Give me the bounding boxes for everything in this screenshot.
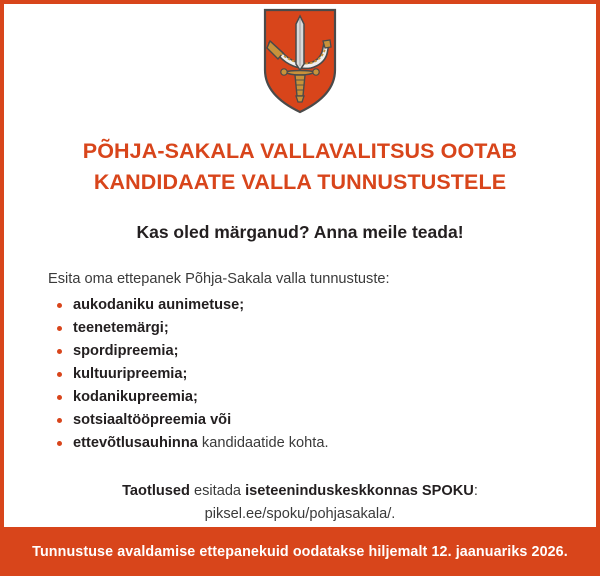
apply-middle-text: esitada: [190, 483, 245, 499]
intro-text: Esita oma ettepanek Põhja-Sakala valla t…: [48, 269, 566, 289]
bullet-icon: [57, 418, 62, 423]
list-item-label: ettevõtlusauhinna: [73, 435, 198, 451]
apply-strong-spoku: iseteeninduskeskkonnas SPOKU: [245, 483, 474, 499]
spoku-url[interactable]: piksel.ee/spoku/pohjasakala/.: [44, 503, 556, 526]
page-title-line-2: KANDIDAATE VALLA TUNNUSTUSTELE: [4, 167, 596, 198]
list-item: ettevõtlusauhinna kandidaatide kohta.: [48, 432, 566, 455]
list-item: sotsiaaltööpreemia või: [48, 409, 566, 432]
award-list: aukodaniku aunimetuse; teenetemärgi; spo…: [48, 294, 566, 455]
body-block: Esita oma ettepanek Põhja-Sakala valla t…: [4, 269, 596, 455]
list-item-label: teenetemärgi;: [73, 320, 169, 336]
apply-strong-taotlused: Taotlused: [122, 483, 190, 499]
deadline-banner: Tunnustuse avaldamise ettepanekuid oodat…: [0, 527, 600, 576]
pohja-sakala-coat-of-arms-icon: [263, 8, 337, 114]
list-item-tail: kandidaatide kohta.: [198, 435, 329, 451]
bullet-icon: [57, 303, 62, 308]
bullet-icon: [57, 349, 62, 354]
list-item-label: kultuuripreemia;: [73, 366, 187, 382]
list-item-label: kodanikupreemia;: [73, 389, 198, 405]
poster-container: PÕHJA-SAKALA VALLAVALITSUS OOTAB KANDIDA…: [0, 0, 600, 576]
page-title: PÕHJA-SAKALA VALLAVALITSUS OOTAB KANDIDA…: [4, 136, 596, 198]
bullet-icon: [57, 441, 62, 446]
bullet-icon: [57, 395, 62, 400]
list-item-label: aukodaniku aunimetuse;: [73, 297, 244, 313]
bullet-icon: [57, 372, 62, 377]
apply-instructions: Taotlused esitada iseteeninduskeskkonnas…: [4, 480, 596, 526]
list-item: aukodaniku aunimetuse;: [48, 294, 566, 317]
apply-colon: :: [474, 483, 478, 499]
subheading: Kas oled märganud? Anna meile teada!: [4, 221, 596, 243]
list-item-label: sotsiaaltööpreemia või: [73, 412, 231, 428]
list-item-label: spordipreemia;: [73, 343, 178, 359]
bullet-icon: [57, 326, 62, 331]
page-title-line-1: PÕHJA-SAKALA VALLAVALITSUS OOTAB: [4, 136, 596, 167]
deadline-text: Tunnustuse avaldamise ettepanekuid oodat…: [32, 544, 568, 560]
list-item: kodanikupreemia;: [48, 386, 566, 409]
list-item: spordipreemia;: [48, 340, 566, 363]
list-item: kultuuripreemia;: [48, 363, 566, 386]
list-item: teenetemärgi;: [48, 317, 566, 340]
crest-area: [4, 4, 596, 126]
